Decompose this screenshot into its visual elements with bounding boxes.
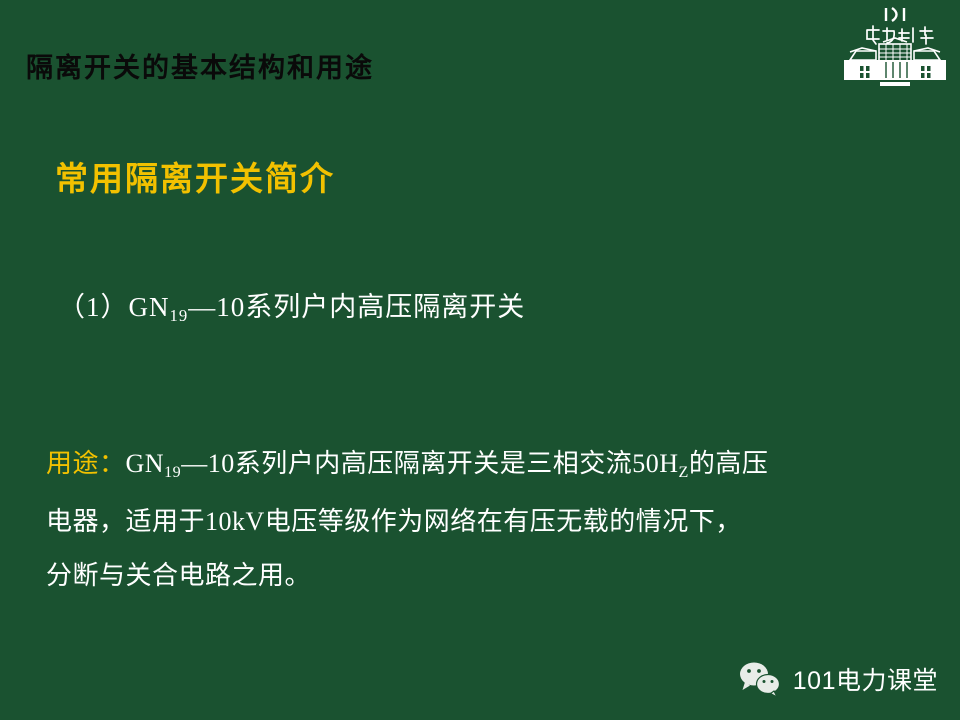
usage-line-2: 电器，适用于10kV电压等级作为网络在有压无载的情况下， bbox=[46, 495, 926, 549]
wechat-icon bbox=[738, 660, 784, 698]
usage-sub-19: 19 bbox=[164, 464, 181, 481]
usage-sub-z: Z bbox=[678, 464, 688, 481]
list-item-one: （1）GN19—10系列户内高压隔离开关 bbox=[58, 285, 525, 324]
usage-label: 用途： bbox=[46, 449, 126, 478]
section-heading: 常用隔离开关简介 bbox=[55, 152, 335, 200]
usage-paragraph: 用途：GN19—10系列户内高压隔离开关是三相交流50HZ的高压 电器，适用于1… bbox=[46, 437, 926, 603]
footer-watermark: 101电力课堂 bbox=[738, 660, 938, 698]
item-one-subscript: 19 bbox=[170, 306, 189, 325]
usage-line-3: 分断与关合电路之用。 bbox=[46, 549, 926, 603]
building-illustration bbox=[844, 38, 946, 86]
usage-line1-c: 的高压 bbox=[689, 449, 769, 478]
page-title: 隔离开关的基本结构和用途 bbox=[26, 46, 374, 85]
item-one-suffix: —10系列户内高压隔离开关 bbox=[188, 292, 525, 322]
brand-logo bbox=[842, 4, 948, 88]
footer-brand-label: 101电力课堂 bbox=[793, 661, 938, 697]
usage-line1-a: GN bbox=[126, 449, 165, 478]
usage-line1-b: —10系列户内高压隔离开关是三相交流50H bbox=[181, 449, 678, 478]
slide-canvas: 隔离开关的基本结构和用途 bbox=[0, 0, 960, 720]
usage-line-1: 用途：GN19—10系列户内高压隔离开关是三相交流50HZ的高压 bbox=[46, 437, 926, 495]
item-one-prefix: （1）GN bbox=[58, 292, 170, 322]
